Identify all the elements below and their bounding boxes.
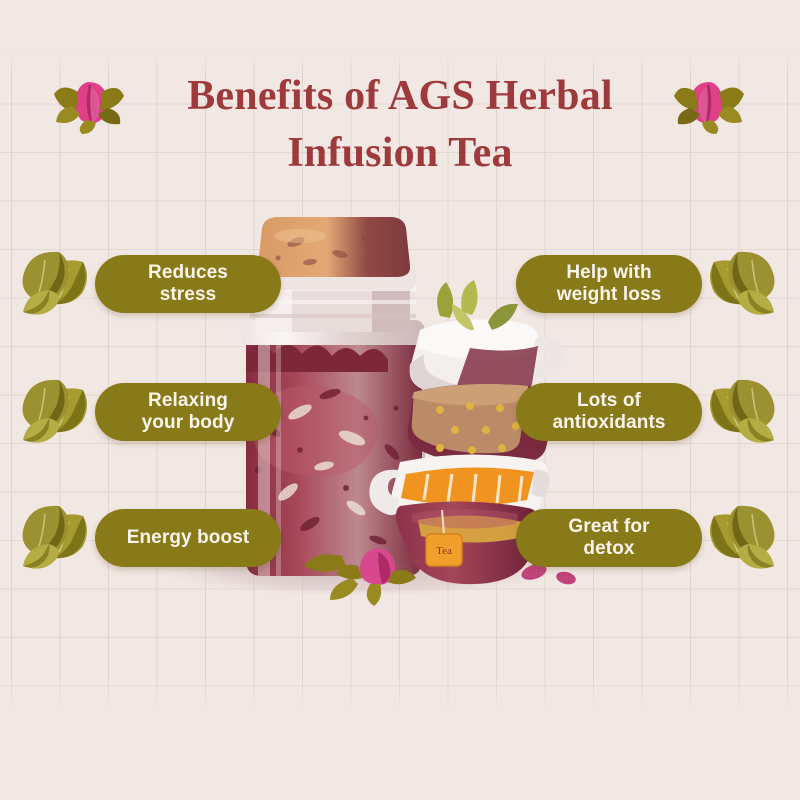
benefit-pill-reduces-stress[interactable]: Reduces stress xyxy=(95,255,281,313)
benefit-line-1: Relaxing xyxy=(148,390,228,411)
benefit-label: Energy boost xyxy=(117,527,260,549)
benefit-line-1: Energy boost xyxy=(127,527,250,548)
benefit-line-1: Great for xyxy=(568,516,649,537)
title-line-1: Benefits of AGS Herbal xyxy=(187,73,613,119)
benefit-line-1: Reduces xyxy=(148,262,228,283)
benefit-line-2: weight loss xyxy=(557,284,662,305)
benefit-label: Lots of antioxidants xyxy=(542,390,675,435)
benefit-pill-lots-of-antioxidants[interactable]: Lots of antioxidants xyxy=(516,383,702,441)
benefit-pill-relaxing-your-body[interactable]: Relaxing your body xyxy=(95,383,281,441)
benefit-pill-help-with-weight-loss[interactable]: Help with weight loss xyxy=(516,255,702,313)
benefit-line-1: Help with xyxy=(566,262,651,283)
poster-canvas: Tea Benefits of AGS Herbal Infusion Tea xyxy=(0,0,800,800)
benefit-line-1: Lots of xyxy=(577,390,641,411)
benefit-label: Reduces stress xyxy=(138,262,238,307)
teabag-label: Tea xyxy=(436,545,452,557)
benefit-label: Help with weight loss xyxy=(547,262,672,307)
benefit-line-2: antioxidants xyxy=(552,412,665,433)
benefit-label: Great for detox xyxy=(558,516,659,561)
rose-top-left-icon xyxy=(52,72,126,134)
benefit-label: Relaxing your body xyxy=(132,390,245,435)
benefit-line-2: detox xyxy=(583,538,634,559)
benefit-pill-great-for-detox[interactable]: Great for detox xyxy=(516,509,702,567)
benefit-pill-energy-boost[interactable]: Energy boost xyxy=(95,509,281,567)
benefit-line-2: stress xyxy=(160,284,217,305)
benefit-line-2: your body xyxy=(142,412,235,433)
rose-top-right-icon xyxy=(672,72,746,134)
